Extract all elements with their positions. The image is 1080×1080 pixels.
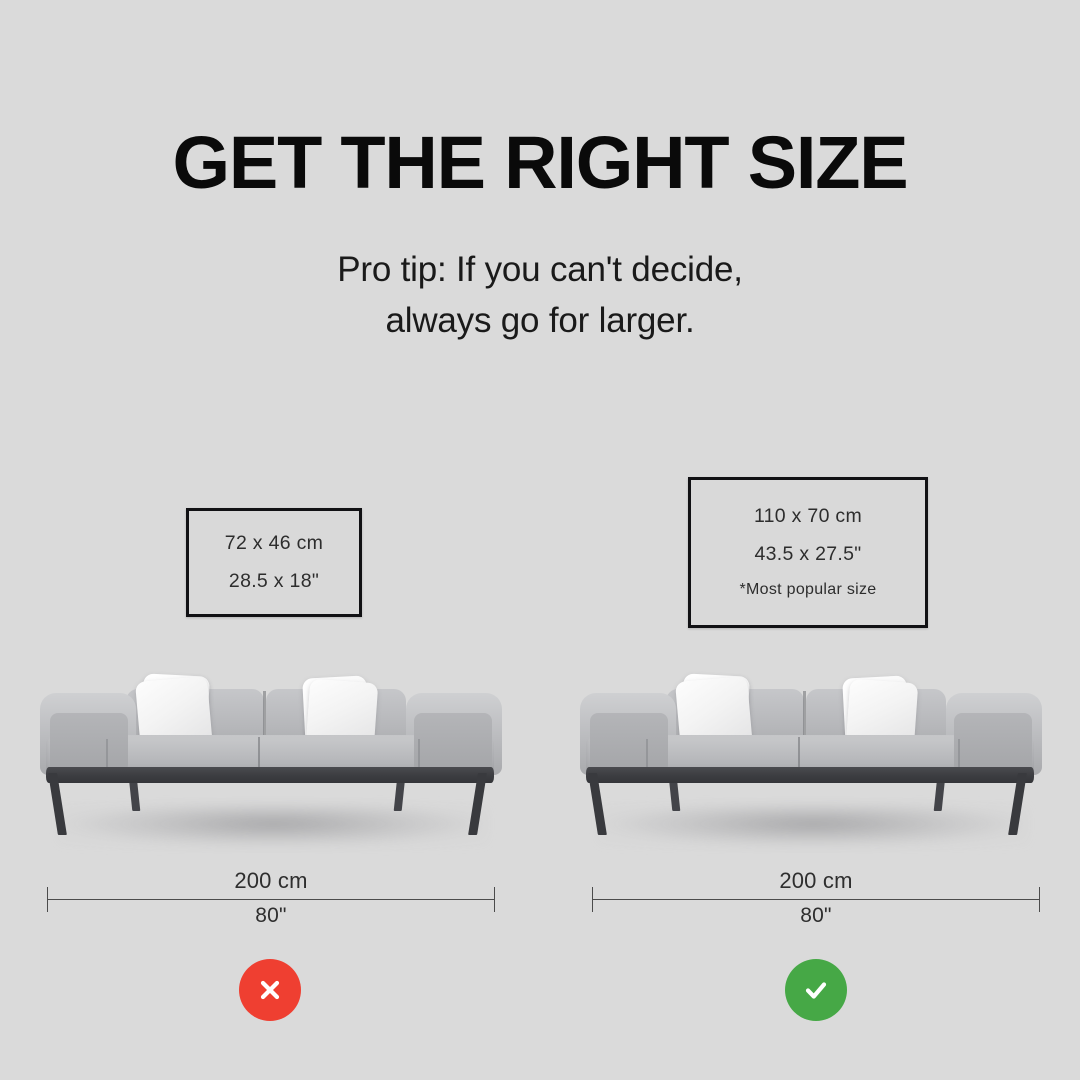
sofa-arm-inner-right	[954, 713, 1032, 773]
sofa-graphic	[18, 655, 523, 860]
frame-size-metric: 110 x 70 cm	[754, 507, 862, 527]
cross-icon	[255, 975, 285, 1005]
sofa-graphic	[558, 655, 1063, 860]
frame-size-imperial: 28.5 x 18"	[229, 572, 319, 592]
dimension-line	[47, 899, 495, 900]
option-too-small: 72 x 46 cm 28.5 x 18"	[0, 0, 540, 1080]
art-frame-small: 72 x 46 cm 28.5 x 18"	[186, 508, 362, 617]
dimension-line	[592, 899, 1040, 900]
sofa-arm-inner-right	[414, 713, 492, 773]
art-frame-large: 110 x 70 cm 43.5 x 27.5" *Most popular s…	[688, 477, 928, 628]
dimension-imperial-label: 80"	[47, 904, 495, 928]
dimension-metric-label: 200 cm	[47, 868, 495, 894]
sofa-illustration	[18, 655, 523, 860]
verdict-badge-correct	[785, 959, 847, 1021]
sofa-base-rail	[46, 767, 494, 783]
sofa-arm-inner-left	[50, 713, 128, 773]
sofa-floor-shadow	[598, 805, 1028, 847]
option-just-right: 110 x 70 cm 43.5 x 27.5" *Most popular s…	[540, 0, 1080, 1080]
sofa-base-rail	[586, 767, 1034, 783]
sofa-width-dimension: 200 cm 80"	[47, 899, 495, 900]
sofa-width-dimension: 200 cm 80"	[592, 899, 1040, 900]
dimension-metric-label: 200 cm	[592, 868, 1040, 894]
frame-popular-note: *Most popular size	[739, 582, 876, 598]
check-icon	[800, 974, 832, 1006]
verdict-badge-incorrect	[239, 959, 301, 1021]
frame-size-imperial: 43.5 x 27.5"	[754, 545, 861, 565]
frame-size-metric: 72 x 46 cm	[225, 534, 323, 554]
dimension-imperial-label: 80"	[592, 904, 1040, 928]
sofa-floor-shadow	[58, 805, 488, 847]
sofa-arm-inner-left	[590, 713, 668, 773]
sofa-illustration	[558, 655, 1063, 860]
